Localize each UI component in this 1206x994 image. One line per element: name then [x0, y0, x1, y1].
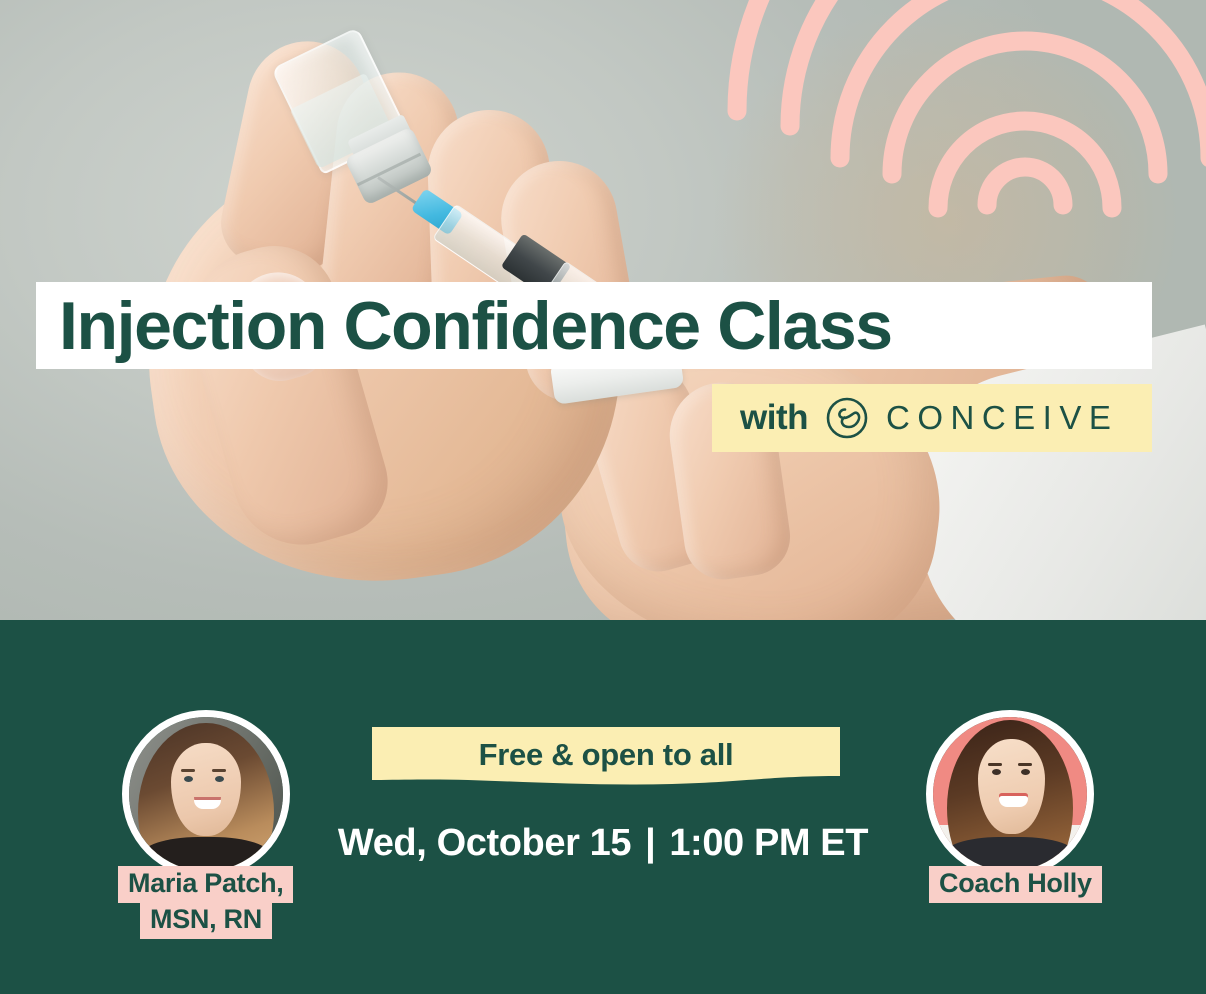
portrait-smile: [999, 796, 1028, 807]
maria-patch-avatar: [122, 710, 290, 878]
datetime-separator: |: [631, 822, 669, 865]
coach-holly-portrait: [933, 717, 1087, 871]
conceive-infinity-circle-icon: [825, 396, 869, 440]
portrait-brow-left: [181, 769, 195, 772]
maria-patch-portrait: [129, 717, 283, 871]
title-band: Injection Confidence Class: [36, 282, 1152, 369]
maria-patch-name-line-1: Maria Patch,: [118, 866, 293, 903]
coach-holly-avatar: [926, 710, 1094, 878]
free-badge-banner: Free & open to all: [372, 727, 840, 789]
portrait-eye-right: [215, 776, 224, 782]
portrait-eye-left: [184, 776, 193, 782]
brand-band: with CONCEIVE: [712, 384, 1152, 452]
free-badge-label: Free & open to all: [372, 727, 840, 789]
maria-patch-name-line-2: MSN, RN: [140, 902, 272, 939]
portrait-brow-right: [1018, 763, 1032, 766]
portrait-brow-right: [212, 769, 226, 772]
concentric-rainbow-arcs-decoration: [720, 0, 1206, 300]
event-time: 1:00 PM ET: [669, 822, 868, 864]
coach-holly-name: Coach Holly: [929, 866, 1102, 903]
with-label: with: [740, 398, 808, 438]
page-title: Injection Confidence Class: [36, 292, 892, 360]
portrait-brow-left: [988, 763, 1002, 766]
promotional-poster: Injection Confidence Class with CONCEIVE…: [0, 0, 1206, 994]
event-date: Wed, October 15: [338, 822, 631, 864]
brand-name: CONCEIVE: [886, 399, 1118, 437]
